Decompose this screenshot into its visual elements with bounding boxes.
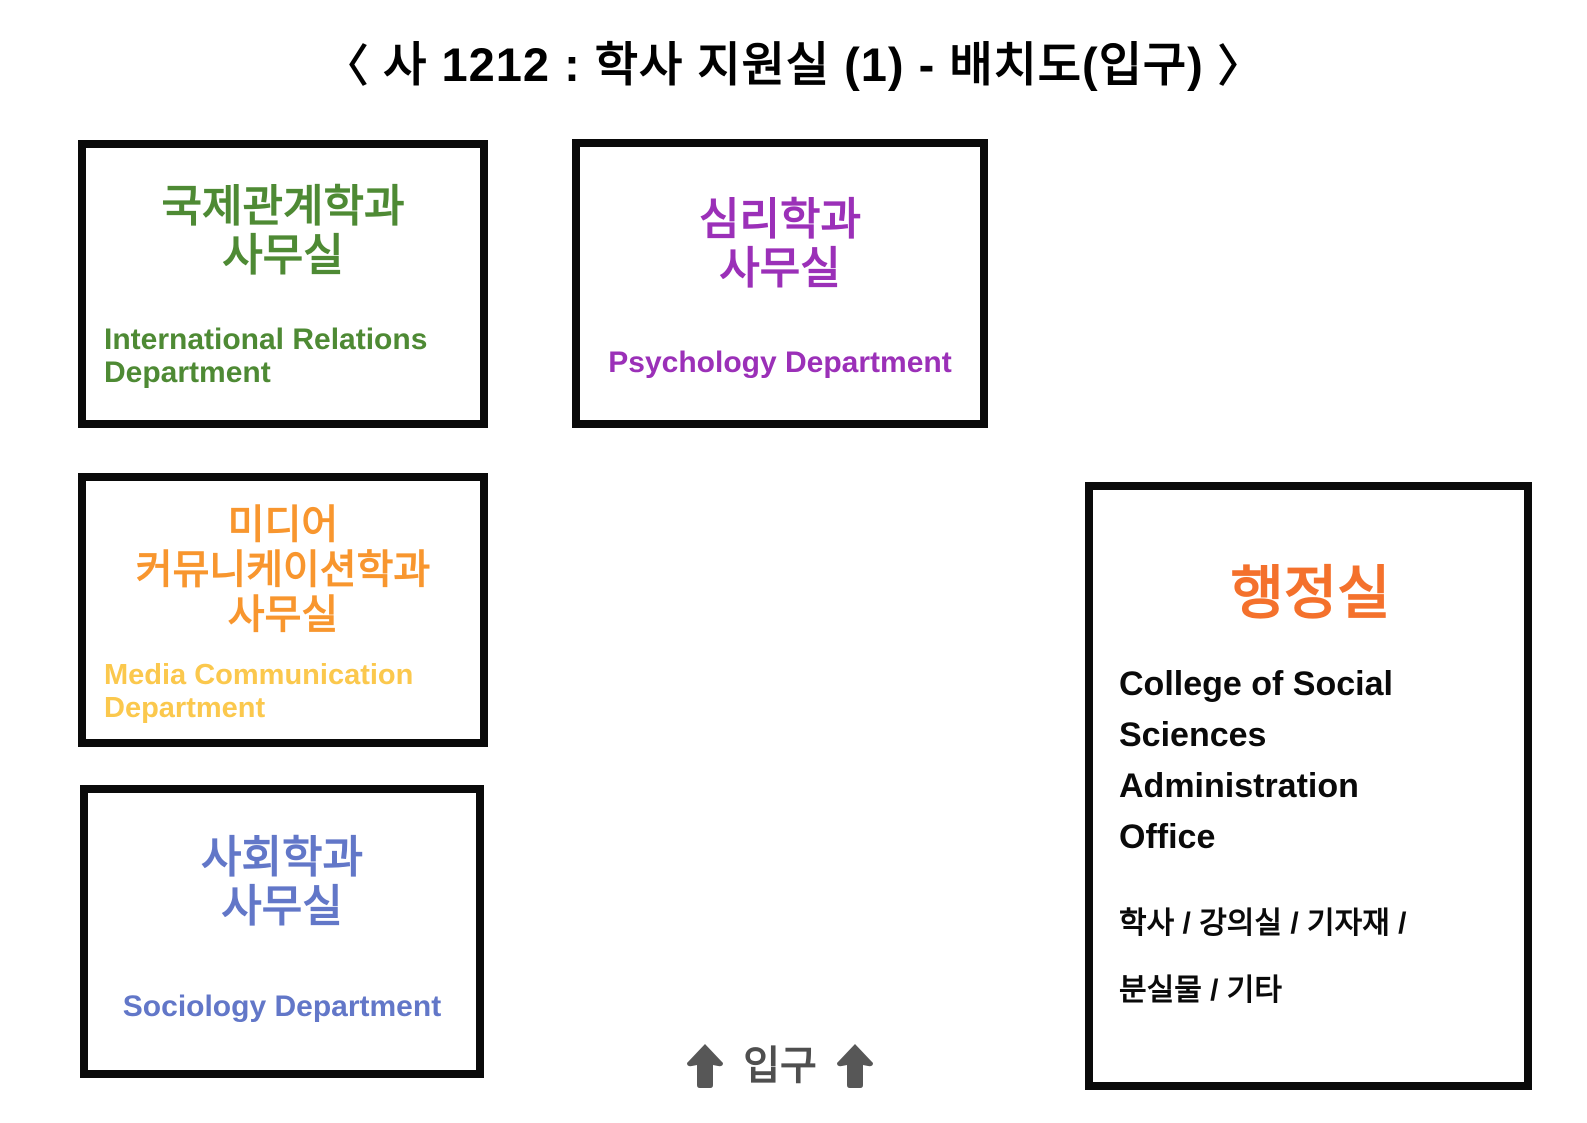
arrow-up-icon [685, 1042, 725, 1090]
room-content: 행정실 College of Social Sciences Administr… [1093, 490, 1524, 1082]
page-title-text: 사 1212 : 학사 지원실 (1) - 배치도(입구) [383, 38, 1204, 91]
room-name-english: International Relations Department [104, 323, 462, 390]
room-name-korean: 사회학과 사무실 [106, 833, 458, 932]
room-name-korean: 국제관계학과 사무실 [104, 182, 462, 281]
service-line: 분실물 / 기타 [1119, 972, 1502, 1010]
prev-chevron-icon[interactable]: 〈 [310, 30, 383, 94]
room-box-administration-office[interactable]: 행정실 College of Social Sciences Administr… [1085, 482, 1532, 1090]
room-name-english: Media Communication Department [104, 659, 462, 724]
room-name-english: Psychology Department [598, 346, 962, 380]
room-name-korean: 미디어 커뮤니케이션학과 사무실 [104, 503, 462, 637]
room-box-psychology[interactable]: 심리학과 사무실 Psychology Department [572, 139, 988, 428]
entrance-marker: 입구 [660, 1035, 900, 1097]
room-name-korean: 심리학과 사무실 [598, 195, 962, 294]
room-content: 사회학과 사무실 Sociology Department [88, 793, 476, 1070]
room-box-sociology[interactable]: 사회학과 사무실 Sociology Department [80, 785, 484, 1078]
room-box-international-relations[interactable]: 국제관계학과 사무실 International Relations Depar… [78, 140, 488, 428]
next-chevron-icon[interactable]: 〉 [1204, 30, 1277, 94]
room-name-english: College of Social Sciences Administratio… [1119, 659, 1502, 863]
room-content: 미디어 커뮤니케이션학과 사무실 Media Communication Dep… [86, 481, 480, 739]
arrow-up-icon [835, 1042, 875, 1090]
entrance-label: 입구 [743, 1046, 817, 1086]
room-content: 국제관계학과 사무실 International Relations Depar… [86, 148, 480, 420]
room-box-media-communication[interactable]: 미디어 커뮤니케이션학과 사무실 Media Communication Dep… [78, 473, 488, 747]
administration-services: 학사 / 강의실 / 기자재 / 분실물 / 기타 [1119, 905, 1502, 1040]
page-title: 〈사 1212 : 학사 지원실 (1) - 배치도(입구)〉 [0, 26, 1587, 95]
service-line: 학사 / 강의실 / 기자재 / [1119, 905, 1502, 943]
room-name-english: Sociology Department [106, 990, 458, 1024]
room-name-korean: 행정실 [1119, 562, 1502, 627]
room-content: 심리학과 사무실 Psychology Department [580, 147, 980, 420]
